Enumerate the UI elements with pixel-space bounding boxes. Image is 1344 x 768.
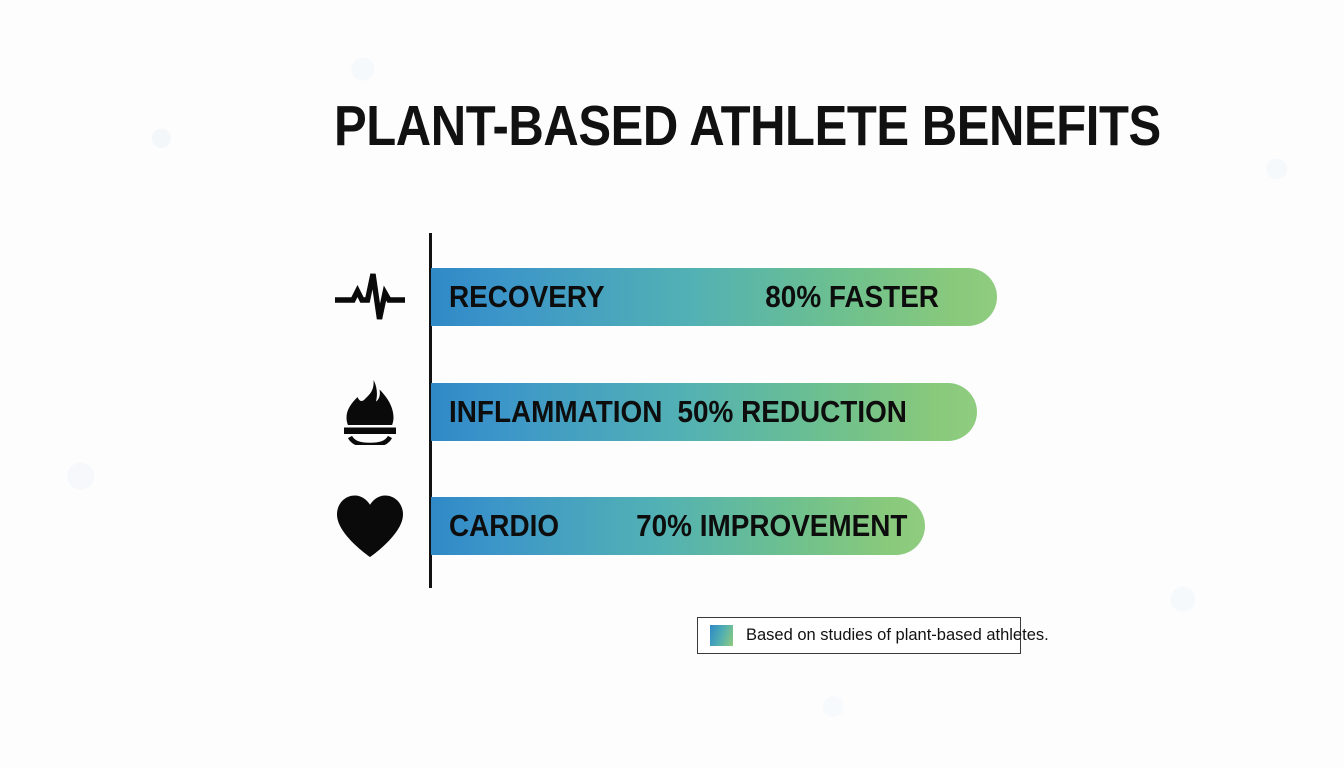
page-title: PLANT-BASED ATHLETE BENEFITS xyxy=(334,96,1161,156)
bar-row[interactable]: CARDIO 70% IMPROVEMENT xyxy=(0,497,1344,555)
bar-recovery[interactable]: RECOVERY 80% FASTER xyxy=(431,268,997,326)
heartbeat-pulse-icon xyxy=(333,266,407,328)
bar-label: INFLAMMATION xyxy=(449,394,662,430)
bar-value: 50% REDUCTION xyxy=(678,394,907,430)
bar-cardio[interactable]: CARDIO 70% IMPROVEMENT xyxy=(431,497,925,555)
bar-inflammation[interactable]: INFLAMMATION 50% REDUCTION xyxy=(431,383,977,441)
bar-label: RECOVERY xyxy=(449,279,605,315)
bar-value: 80% FASTER xyxy=(765,279,939,315)
bar-value: 70% IMPROVEMENT xyxy=(636,508,907,544)
infographic-canvas: PLANT-BASED ATHLETE BENEFITS RECOVERY 80… xyxy=(0,0,1344,768)
legend-swatch-icon xyxy=(710,625,733,646)
bar-row[interactable]: RECOVERY 80% FASTER xyxy=(0,268,1344,326)
legend-caption: Based on studies of plant-based athletes… xyxy=(746,626,1049,645)
bar-label: CARDIO xyxy=(449,508,559,544)
legend: Based on studies of plant-based athletes… xyxy=(697,617,1021,654)
flame-inflammation-icon xyxy=(333,381,407,443)
bar-row[interactable]: INFLAMMATION 50% REDUCTION xyxy=(0,383,1344,441)
heart-cardio-icon xyxy=(333,495,407,557)
